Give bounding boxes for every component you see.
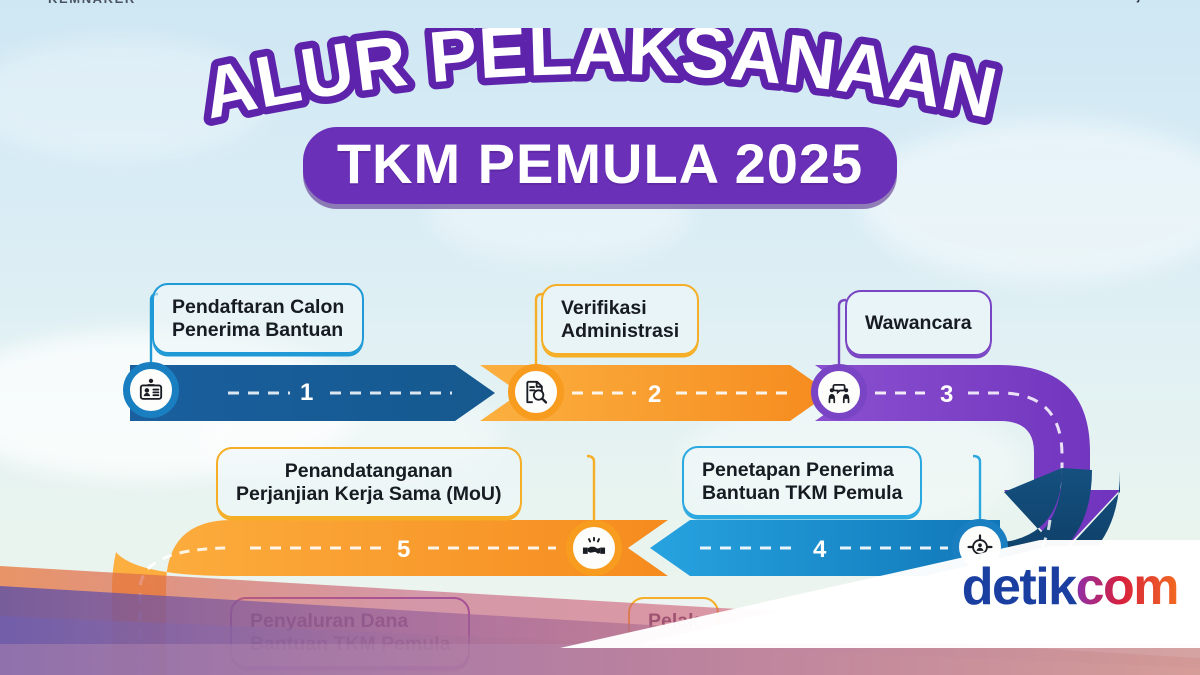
step-5-label-line1: Penandatanganan xyxy=(236,460,502,483)
com-text: com xyxy=(1076,558,1178,616)
id-card-icon xyxy=(138,377,164,403)
step-1-label-card: Pendaftaran Calon Penerima Bantuan xyxy=(152,283,364,354)
step-4-label-line2: Bantuan TKM Pemula xyxy=(702,482,902,505)
detik-text: detik xyxy=(962,558,1076,616)
step-1-icon-badge xyxy=(123,362,179,418)
interview-icon xyxy=(826,379,852,405)
step-2-label-line2: Administrasi xyxy=(561,320,679,343)
step-4-label-line1: Penetapan Penerima xyxy=(702,459,902,482)
step-2-icon-badge xyxy=(508,364,564,420)
step-1-label-line1: Pendaftaran Calon xyxy=(172,296,344,319)
step-3-number: 3 xyxy=(940,381,953,409)
step-2-label-line1: Verifikasi xyxy=(561,297,679,320)
step-1-label-line2: Penerima Bantuan xyxy=(172,319,344,342)
step-2-label-card: Verifikasi Administrasi xyxy=(541,284,699,355)
step-3-icon-badge xyxy=(811,364,867,420)
step-5-label-card: Penandatanganan Perjanjian Kerja Sama (M… xyxy=(216,447,522,518)
detikcom-watermark: detikcom xyxy=(962,561,1178,613)
infographic-stage: KEMNAKER Indonesia Maju ALUR PELAKSANAAN… xyxy=(0,0,1200,675)
step-1-number: 1 xyxy=(300,379,313,407)
step-3-label-card: Wawancara xyxy=(845,290,992,356)
step-5-label-line2: Perjanjian Kerja Sama (MoU) xyxy=(236,483,502,506)
step-2-number: 2 xyxy=(648,381,661,409)
step-4-label-card: Penetapan Penerima Bantuan TKM Pemula xyxy=(682,446,922,517)
document-search-icon xyxy=(523,379,549,405)
step-3-label-line1: Wawancara xyxy=(865,312,972,335)
